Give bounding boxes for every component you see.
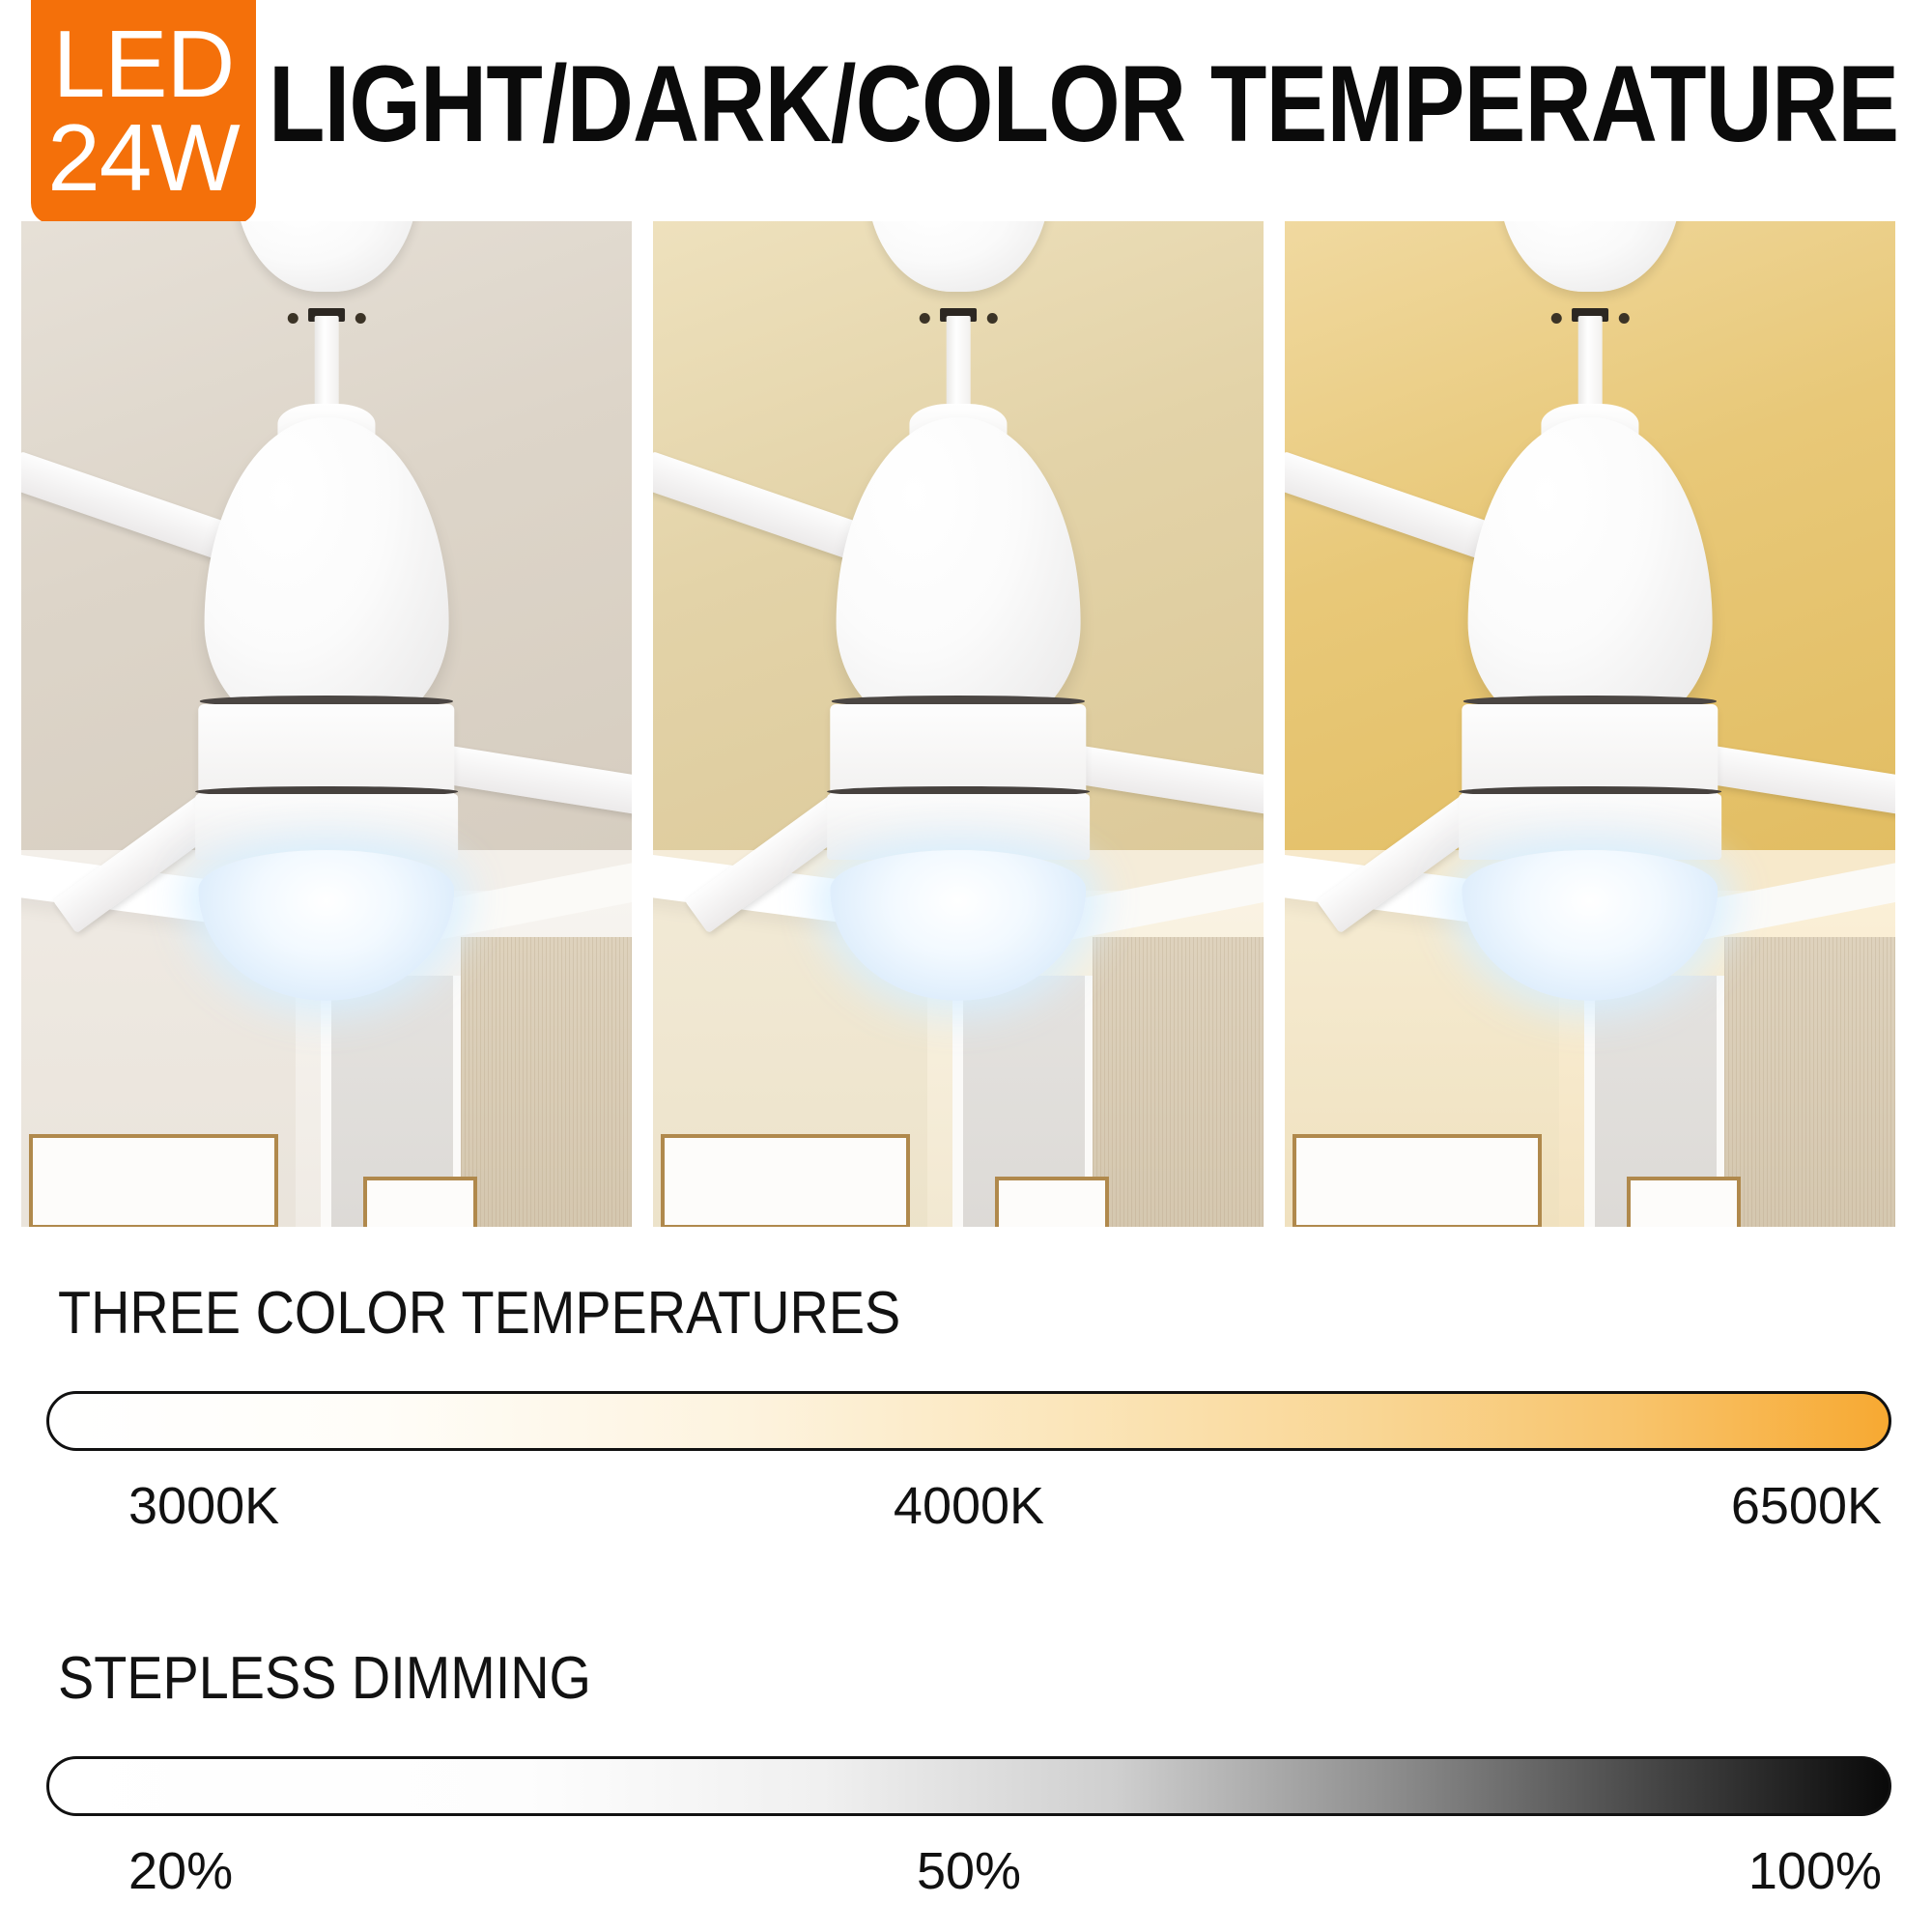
ct-scale-mid: 4000K xyxy=(894,1476,1044,1536)
dimming-scale: 20% 50% 100% xyxy=(46,1841,1891,1901)
led-light-lens xyxy=(830,850,1086,1001)
ceiling-fan xyxy=(1285,221,1895,1227)
led-light-lens xyxy=(1462,850,1718,1001)
ceiling-fan xyxy=(653,221,1264,1227)
product-scene-gallery xyxy=(21,221,1895,1227)
fan-canopy xyxy=(867,221,1050,292)
scene-panel-cool xyxy=(21,221,632,1227)
fan-motor-housing xyxy=(1468,417,1713,739)
dim-scale-min: 20% xyxy=(128,1841,233,1901)
dimming-gradient-bar xyxy=(46,1756,1891,1816)
led-badge-line2: 24W xyxy=(47,112,240,204)
ct-scale-min: 3000K xyxy=(128,1476,279,1536)
fan-motor-housing xyxy=(837,417,1081,739)
color-temperature-scale: 3000K 4000K 6500K xyxy=(46,1476,1891,1536)
dim-scale-mid: 50% xyxy=(917,1841,1021,1901)
color-temperature-gradient-bar xyxy=(46,1391,1891,1451)
fan-motor-housing xyxy=(205,417,449,739)
dimming-heading: STEPLESS DIMMING xyxy=(58,1644,591,1713)
ceiling-fan xyxy=(21,221,632,1227)
fan-canopy xyxy=(1498,221,1682,292)
header: LED 24W LIGHT/DARK/COLOR TEMPERATURE xyxy=(0,0,1932,228)
scene-panel-neutral xyxy=(653,221,1264,1227)
dim-scale-max: 100% xyxy=(1748,1841,1882,1901)
ct-scale-max: 6500K xyxy=(1731,1476,1882,1536)
led-badge-line1: LED xyxy=(53,18,235,110)
color-temperature-heading: THREE COLOR TEMPERATURES xyxy=(58,1279,900,1348)
led-wattage-badge: LED 24W xyxy=(31,0,256,224)
scene-panel-warm xyxy=(1285,221,1895,1227)
page-title: LIGHT/DARK/COLOR TEMPERATURE xyxy=(269,50,1898,158)
fan-canopy xyxy=(235,221,418,292)
led-light-lens xyxy=(198,850,454,1001)
